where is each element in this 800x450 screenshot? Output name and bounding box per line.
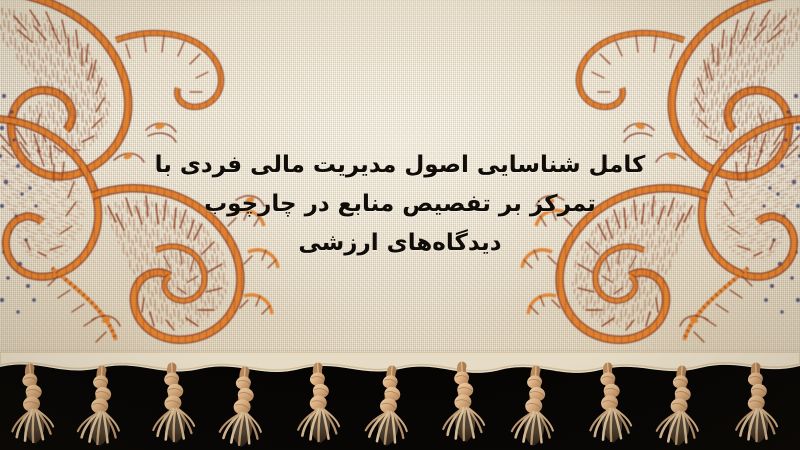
- cloth-woven-hem: [0, 356, 800, 390]
- title-line-3: دیدگاه‌های ارزشی: [120, 224, 680, 263]
- image-canvas: کامل شناسایی اصول مدیریت مالی فردی با تم…: [0, 0, 800, 450]
- title-line-1: کامل شناسایی اصول مدیریت مالی فردی با: [120, 146, 680, 185]
- title-line-2: تمرکز بر تفصیص منابع در چارچوب: [120, 185, 680, 224]
- page-title: کامل شناسایی اصول مدیریت مالی فردی با تم…: [120, 146, 680, 263]
